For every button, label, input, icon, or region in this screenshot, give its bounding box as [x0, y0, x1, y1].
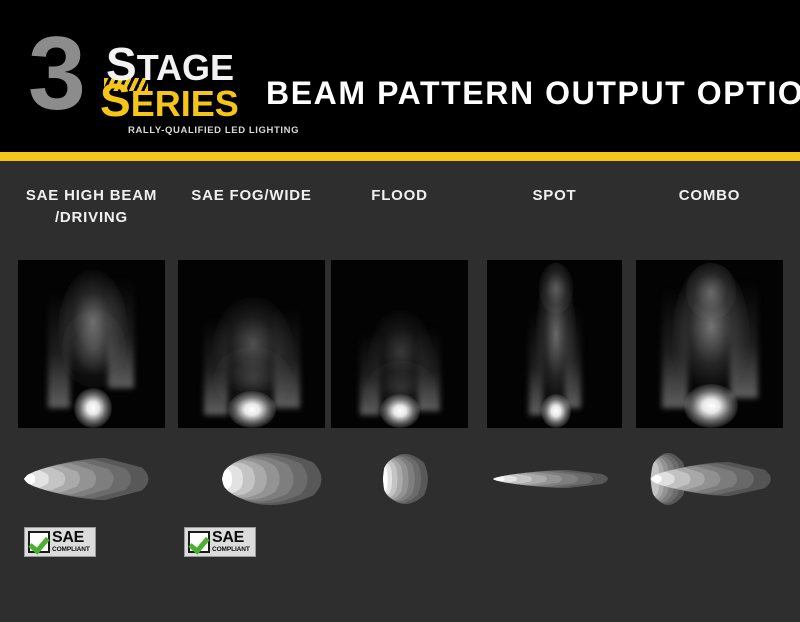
check-icon: [188, 531, 210, 553]
column-label-line1: SPOT: [532, 187, 576, 204]
column-label-spot: SPOT: [487, 185, 622, 207]
logo-series-capital: S: [100, 74, 131, 126]
beam-photo-scene: [18, 260, 165, 428]
beam-photo-spot[interactable]: [487, 260, 622, 428]
column-label-line1: SAE HIGH BEAM: [26, 187, 157, 204]
beam-light-region: [62, 310, 126, 387]
beam-pattern-diagram: [178, 443, 325, 515]
beam-light-region: [541, 394, 571, 428]
header-bar: 3 STAGE SERIES RALLY-QUALIFIED LED LIGHT…: [0, 0, 800, 152]
sae-badge-title: SAE: [52, 530, 90, 546]
beam-photo-sae-fog-wide[interactable]: [178, 260, 325, 428]
beam-photo-combo[interactable]: [636, 260, 783, 428]
beam-light-region: [662, 287, 688, 408]
beam-light-region: [684, 384, 738, 428]
beam-pattern-chart: 3 STAGE SERIES RALLY-QUALIFIED LED LIGHT…: [0, 0, 800, 622]
column-label-line1: FLOOD: [371, 187, 428, 204]
beam-pattern-diagram: [331, 443, 468, 515]
beam-column-flood[interactable]: FLOOD: [331, 161, 468, 622]
logo-numeral-3: 3: [28, 26, 82, 122]
sae-badge-subtitle: COMPLIANT: [52, 547, 90, 554]
beam-diagram-flood: [331, 443, 468, 515]
sae-badge-subtitle: COMPLIANT: [212, 547, 250, 554]
beam-diagram-spot: [487, 443, 622, 515]
column-label-line2: /DRIVING: [55, 209, 128, 226]
sae-badge-text: SAE COMPLIANT: [52, 530, 90, 554]
page-title: BEAM PATTERN OUTPUT OPTIONS: [266, 75, 800, 112]
sae-compliant-badge-sae-high-beam-driving: SAE COMPLIANT: [24, 527, 96, 557]
column-label-sae-fog-wide: SAE FOG/WIDE: [178, 185, 325, 207]
beam-photo-sae-high-beam-driving[interactable]: [18, 260, 165, 428]
beam-photo-scene: [487, 260, 622, 428]
beam-photo-scene: [636, 260, 783, 428]
beam-column-sae-high-beam-driving[interactable]: SAE HIGH BEAM/DRIVING SAE COMPLIANT: [18, 161, 165, 622]
beam-column-sae-fog-wide[interactable]: SAE FOG/WIDE SAE COMPLIANT: [178, 161, 325, 622]
column-label-sae-high-beam-driving: SAE HIGH BEAM/DRIVING: [18, 185, 165, 229]
column-label-flood: FLOOD: [331, 185, 468, 207]
beam-light-region: [730, 280, 758, 398]
logo-word-series: SERIES: [100, 82, 239, 122]
beam-light-region: [380, 394, 420, 428]
beam-photo-scene: [178, 260, 325, 428]
beam-diagram-combo: [636, 443, 783, 515]
beam-pattern-diagram: [636, 443, 783, 515]
beam-light-region: [228, 391, 276, 428]
sae-badge-text: SAE COMPLIANT: [212, 530, 250, 554]
beam-light-region: [74, 388, 112, 428]
beam-pattern-diagram: [487, 443, 622, 515]
stage-series-logo: 3 STAGE SERIES RALLY-QUALIFIED LED LIGHT…: [28, 26, 248, 131]
column-label-line1: COMBO: [679, 187, 741, 204]
column-label-combo: COMBO: [636, 185, 783, 207]
beam-diagram-sae-fog-wide: [178, 443, 325, 515]
check-icon: [28, 531, 50, 553]
beam-diagram-sae-high-beam-driving: [18, 443, 165, 515]
beam-column-combo[interactable]: COMBO: [636, 161, 783, 622]
beam-column-spot[interactable]: SPOT: [487, 161, 622, 622]
beam-light-region: [529, 310, 543, 414]
beam-light-region: [565, 304, 581, 408]
beam-light-region: [686, 263, 736, 320]
sae-badge-title: SAE: [212, 530, 250, 546]
header-divider: [0, 152, 800, 161]
logo-series-rest: ERIES: [131, 83, 239, 124]
logo-tagline: RALLY-QUALIFIED LED LIGHTING: [128, 125, 299, 136]
beam-photo-flood[interactable]: [331, 260, 468, 428]
column-label-line1: SAE FOG/WIDE: [191, 187, 311, 204]
sae-compliant-badge-sae-fog-wide: SAE COMPLIANT: [184, 527, 256, 557]
beam-photo-scene: [331, 260, 468, 428]
beam-pattern-diagram: [18, 443, 165, 515]
beam-columns: SAE HIGH BEAM/DRIVING SAE COMPLIANT SAE …: [0, 161, 800, 622]
